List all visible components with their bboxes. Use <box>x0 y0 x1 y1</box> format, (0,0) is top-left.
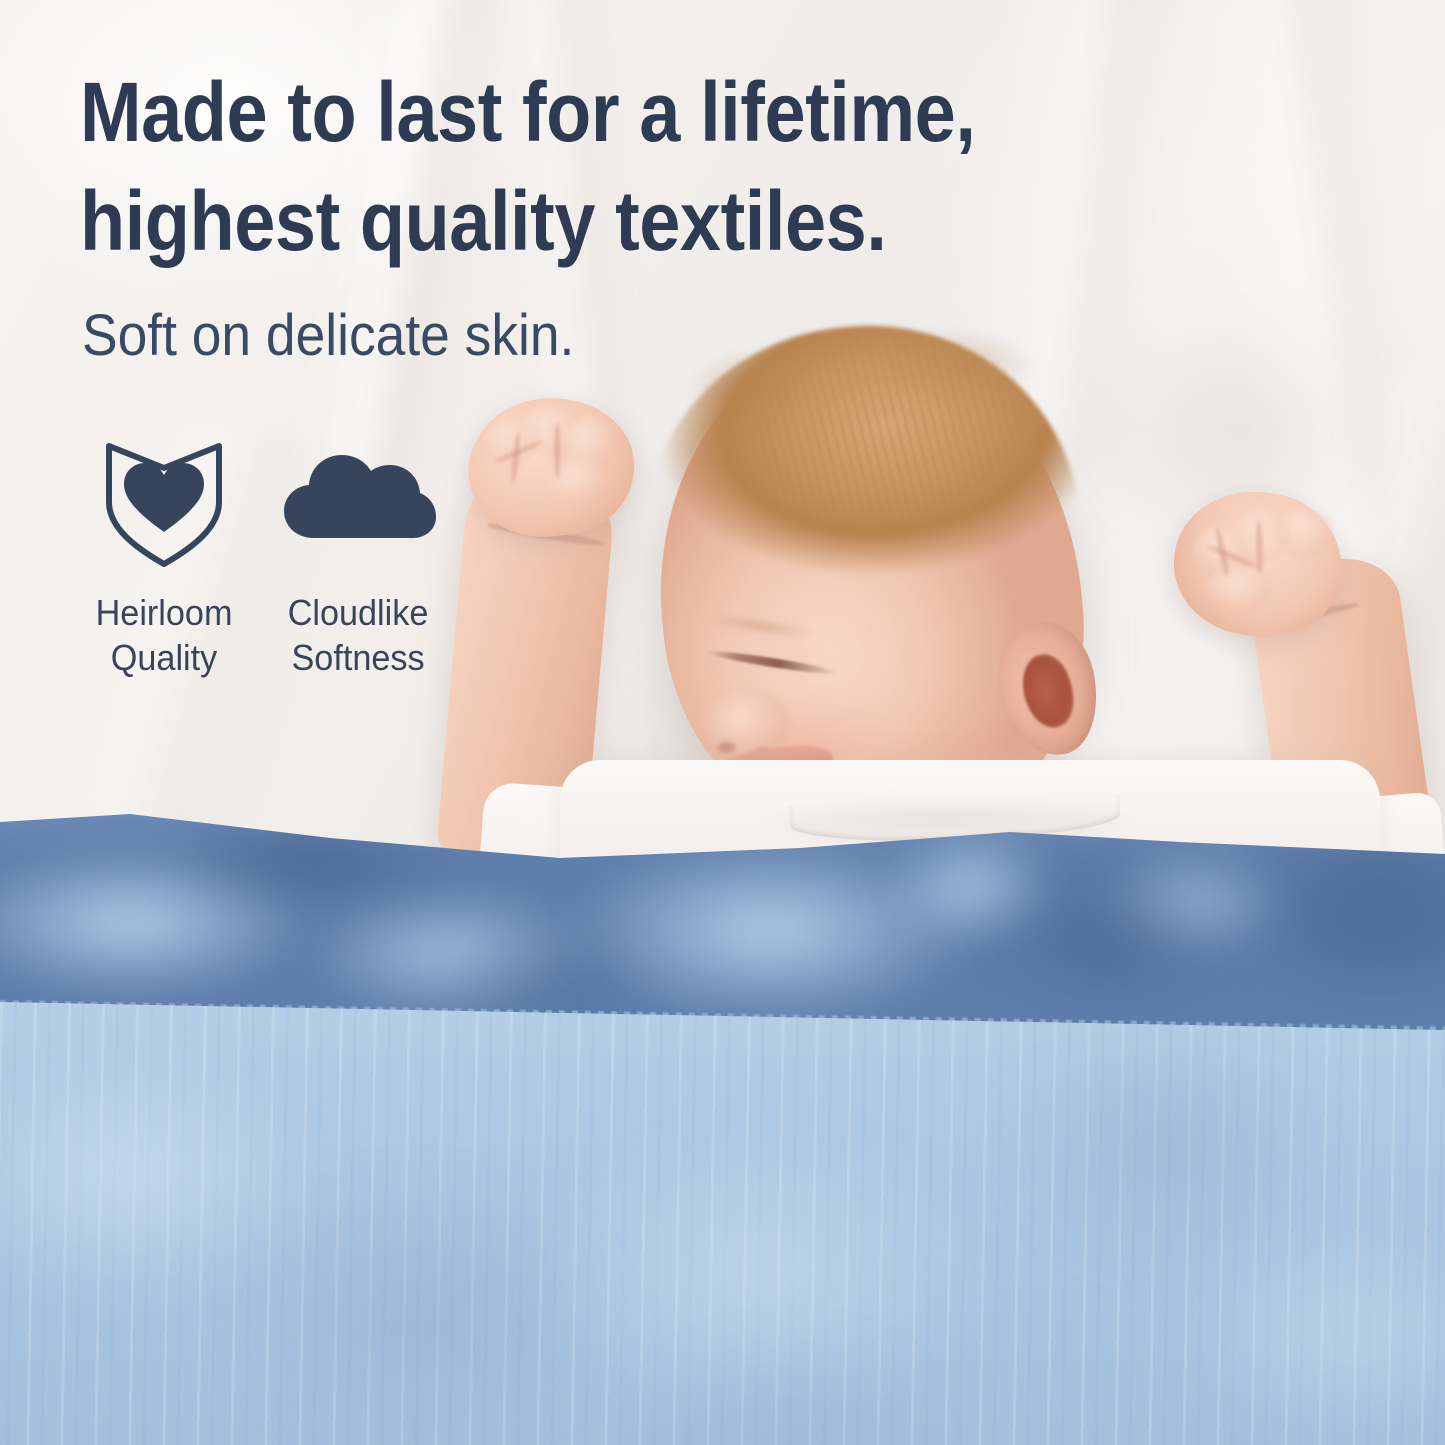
badge-heirloom-quality: Heirloom Quality <box>78 428 250 681</box>
subheadline: Soft on delicate skin. <box>82 302 574 369</box>
badge-label-line-1: Heirloom <box>96 590 233 635</box>
badge-label-line-1: Cloudlike <box>288 590 429 635</box>
headline-line-2: highest quality textiles. <box>80 167 1074 276</box>
cloud-icon <box>280 428 436 568</box>
page-title: Made to last for a lifetime, highest qua… <box>80 58 1074 276</box>
headline-line-1: Made to last for a lifetime, <box>80 58 1074 167</box>
badge-label: Heirloom Quality <box>96 590 233 681</box>
marketing-overlay: Made to last for a lifetime, highest qua… <box>0 0 1445 1445</box>
badge-label: Cloudlike Softness <box>288 590 429 681</box>
feature-badges: Heirloom Quality Cloudlike Softness <box>78 428 444 681</box>
badge-cloudlike-softness: Cloudlike Softness <box>272 428 444 681</box>
shield-heart-icon <box>102 428 226 568</box>
badge-label-line-2: Softness <box>288 635 429 680</box>
product-lifestyle-image: Made to last for a lifetime, highest qua… <box>0 0 1445 1445</box>
badge-label-line-2: Quality <box>96 635 233 680</box>
